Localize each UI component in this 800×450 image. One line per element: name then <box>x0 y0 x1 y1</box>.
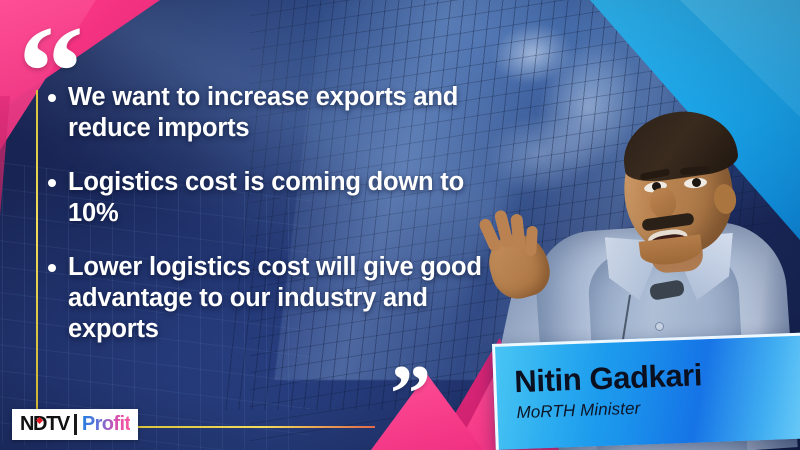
quote-bullet-list: We want to increase exports and reduce i… <box>48 82 518 344</box>
logo-diamond-icon <box>36 417 43 424</box>
bullet-dot-icon <box>48 179 56 187</box>
logo-ndtv-text: NDTV <box>20 413 69 436</box>
list-item: Logistics cost is coming down to 10% <box>48 167 518 228</box>
close-quote-icon: ” <box>390 364 430 423</box>
speaker-name-plate: Nitin Gadkari MoRTH Minister <box>492 332 800 450</box>
list-item: Lower logistics cost will give good adva… <box>48 252 518 344</box>
logo-separator <box>74 414 77 435</box>
ndtv-profit-logo[interactable]: NDTV Profit <box>12 409 138 440</box>
quote-card: “ ” We want to increase exports and redu… <box>0 0 800 450</box>
speaker-finger <box>525 226 538 257</box>
bullet-dot-icon <box>48 264 56 272</box>
gold-horizontal-rule <box>130 426 375 428</box>
logo-profit-text: Profit <box>82 413 131 436</box>
bullet-dot-icon <box>48 94 56 102</box>
list-item: We want to increase exports and reduce i… <box>48 82 518 143</box>
bullet-text: Lower logistics cost will give good adva… <box>68 252 518 344</box>
speaker-vest-button <box>656 323 663 330</box>
speaker-pupil-right <box>692 178 701 187</box>
speaker-name: Nitin Gadkari <box>514 357 703 400</box>
bullet-text: We want to increase exports and reduce i… <box>68 82 518 143</box>
bullet-text: Logistics cost is coming down to 10% <box>68 167 518 228</box>
